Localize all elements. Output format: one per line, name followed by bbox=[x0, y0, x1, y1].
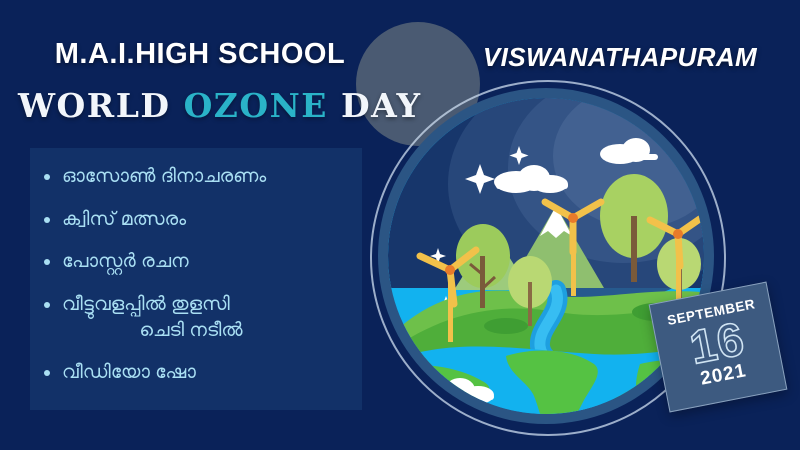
title-word-world: WORLD bbox=[18, 86, 171, 125]
list-item-label: ക്വിസ് മത്സരം bbox=[62, 207, 344, 233]
list-item: പോസ്റ്റർ രചന bbox=[44, 249, 344, 275]
list-item: വീട്ടുവളപ്പിൽ തുളസി ചെടി നടീൽ bbox=[44, 292, 344, 343]
list-item-label-line2: ചെടി നടീൽ bbox=[62, 318, 344, 344]
place-name: VISWANATHAPURAM bbox=[455, 42, 785, 73]
list-item-label-line1: വീട്ടുവളപ്പിൽ തുളസി bbox=[62, 294, 230, 315]
list-item-label: ഓസോൺ ദിനാചരണം bbox=[62, 164, 344, 190]
list-item-label: പോസ്റ്റർ രചന bbox=[62, 249, 344, 275]
list-item: വീഡിയോ ഷോ bbox=[44, 360, 344, 386]
bullet-icon bbox=[44, 217, 50, 223]
title-word-ozone: OZONE bbox=[184, 86, 328, 125]
title-word-day: DAY bbox=[341, 86, 422, 125]
bullet-icon bbox=[44, 259, 50, 265]
poster-canvas: M.A.I.HIGH SCHOOL VISWANATHAPURAM WORLD … bbox=[0, 0, 800, 450]
bullet-icon bbox=[44, 174, 50, 180]
globe-scene bbox=[388, 98, 704, 414]
list-item-label: വീട്ടുവളപ്പിൽ തുളസി ചെടി നടീൽ bbox=[62, 292, 344, 343]
school-name: M.A.I.HIGH SCHOOL bbox=[30, 38, 370, 71]
date-badge: SEPTEMBER 16 2021 bbox=[649, 282, 788, 413]
list-item: ഓസോൺ ദിനാചരണം bbox=[44, 164, 344, 190]
list-item: ക്വിസ് മത്സരം bbox=[44, 207, 344, 233]
bullet-icon bbox=[44, 370, 50, 376]
globe-body bbox=[388, 98, 704, 414]
list-item-label: വീഡിയോ ഷോ bbox=[62, 360, 344, 386]
bullet-icon bbox=[44, 302, 50, 308]
page-title: WORLD OZONE DAY bbox=[18, 86, 368, 125]
activity-list: ഓസോൺ ദിനാചരണം ക്വിസ് മത്സരം പോസ്റ്റർ രചന… bbox=[44, 164, 344, 403]
